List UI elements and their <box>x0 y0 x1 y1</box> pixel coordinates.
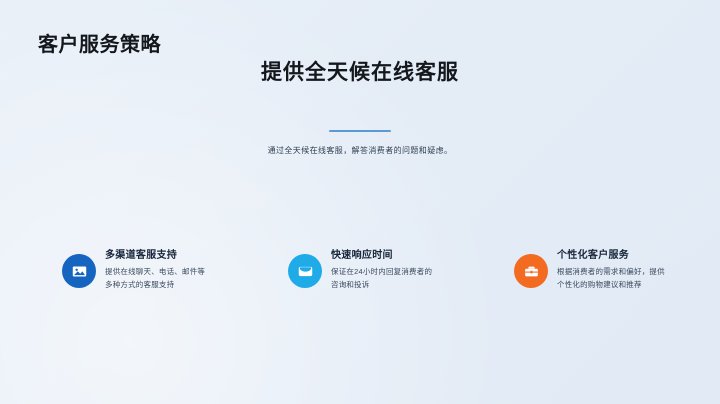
list-item: 多渠道客服支持 提供在线聊天、电话、邮件等多种方式的客服支持 <box>62 248 288 291</box>
list-item: 个性化客户服务 根据消费者的需求和偏好，提供个性化的购物建议和推荐 <box>514 248 720 291</box>
list-item-title: 个性化客户服务 <box>557 249 669 263</box>
list-item: 快速响应时间 保证在24小时内回复消费者的咨询和投诉 <box>288 248 514 291</box>
list-item-text: 快速响应时间 保证在24小时内回复消费者的咨询和投诉 <box>331 248 435 291</box>
page-title: 客户服务策略 <box>38 28 161 57</box>
slide-headline: 提供全天候在线客服 <box>0 56 720 86</box>
list-item-text: 多渠道客服支持 提供在线聊天、电话、邮件等多种方式的客服支持 <box>105 248 209 291</box>
list-item-description: 保证在24小时内回复消费者的咨询和投诉 <box>331 266 435 291</box>
feature-list: 多渠道客服支持 提供在线聊天、电话、邮件等多种方式的客服支持 快速响应时间 保证… <box>62 248 676 291</box>
headline-divider <box>329 130 391 132</box>
list-item-title: 多渠道客服支持 <box>105 249 209 263</box>
list-item-description: 提供在线聊天、电话、邮件等多种方式的客服支持 <box>105 266 209 291</box>
slide-canvas: 客户服务策略 提供全天候在线客服 通过全天候在线客服，解答消费者的问题和疑虑。 … <box>0 0 720 404</box>
list-item-description: 根据消费者的需求和偏好，提供个性化的购物建议和推荐 <box>557 266 669 291</box>
list-item-title: 快速响应时间 <box>331 249 435 263</box>
list-item-text: 个性化客户服务 根据消费者的需求和偏好，提供个性化的购物建议和推荐 <box>557 248 669 291</box>
image-icon <box>62 254 96 288</box>
briefcase-icon <box>514 254 548 288</box>
slide-subtitle: 通过全天候在线客服，解答消费者的问题和疑虑。 <box>0 145 720 156</box>
envelope-icon <box>288 254 322 288</box>
